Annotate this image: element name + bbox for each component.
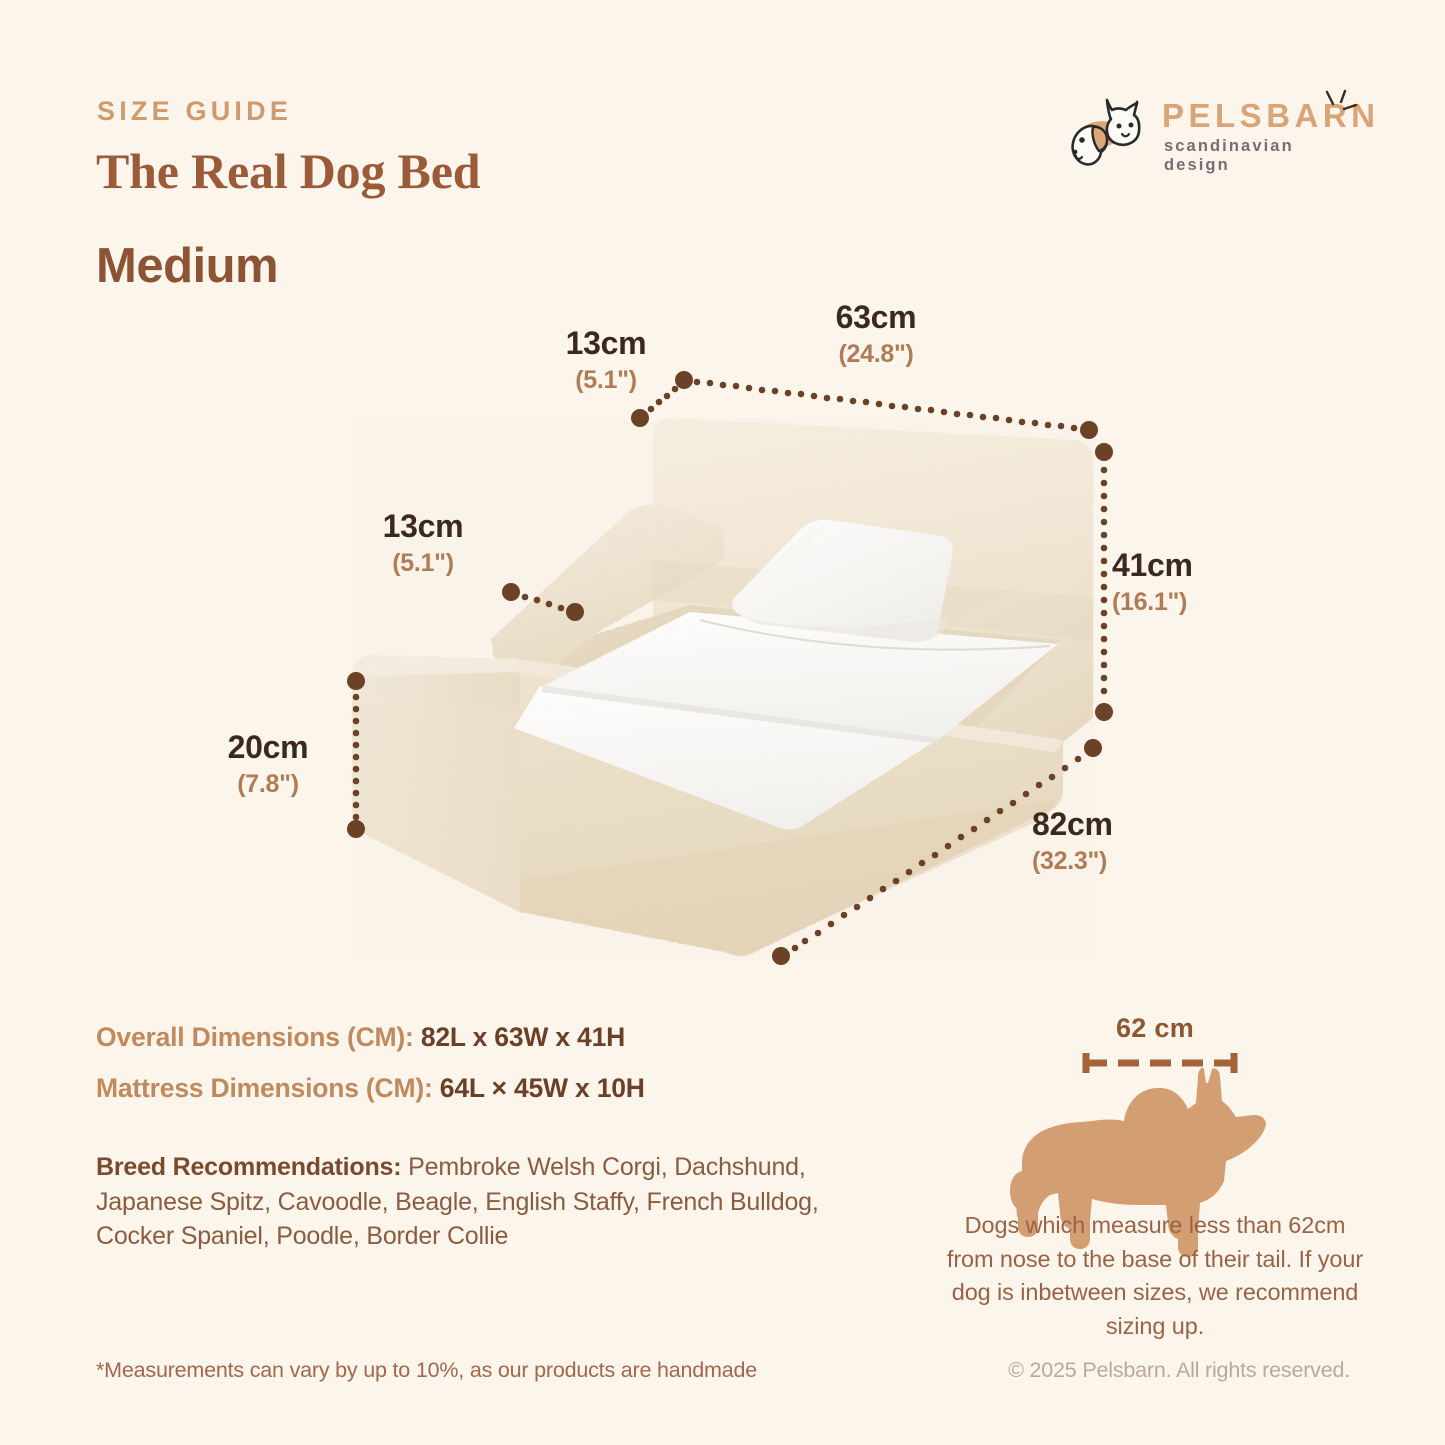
dimension-label-63cm: 63cm (24.8") bbox=[776, 301, 976, 367]
dog-and-cat-heads-icon bbox=[1063, 92, 1157, 170]
overall-dimensions-label: Overall Dimensions (CM): bbox=[96, 1022, 414, 1052]
overall-dimensions-row: Overall Dimensions (CM): 82L x 63W x 41H bbox=[96, 1022, 625, 1053]
mattress-dimensions-label: Mattress Dimensions (CM): bbox=[96, 1073, 433, 1103]
page-title: The Real Dog Bed bbox=[96, 142, 480, 200]
breed-recommendations-label: Breed Recommendations: bbox=[96, 1153, 401, 1181]
brand-logo[interactable]: PELSBARN scandinavian design bbox=[1063, 88, 1353, 174]
ruler-label-62cm: 62 cm bbox=[940, 1013, 1370, 1044]
dog-measurement-note: Dogs which measure less than 62cm from n… bbox=[940, 1209, 1370, 1343]
dimension-label-82cm: 82cm (32.3") bbox=[1032, 808, 1222, 874]
logo-tagline: scandinavian design bbox=[1164, 137, 1353, 175]
dimension-label-13cm-bolster: 13cm (5.1") bbox=[325, 510, 521, 576]
overall-dimensions-value: 82L x 63W x 41H bbox=[421, 1022, 625, 1052]
dimension-label-13cm-backrest: 13cm (5.1") bbox=[508, 327, 704, 393]
mattress-dimensions-row: Mattress Dimensions (CM): 64L × 45W x 10… bbox=[96, 1073, 645, 1104]
size-name: Medium bbox=[96, 238, 278, 294]
dimension-label-20cm: 20cm (7.8") bbox=[162, 731, 374, 797]
dimension-label-41cm: 41cm (16.1") bbox=[1112, 549, 1292, 615]
size-guide-page: SIZE GUIDE The Real Dog Bed Medium bbox=[0, 0, 1445, 1445]
measurement-disclaimer: *Measurements can vary by up to 10%, as … bbox=[96, 1358, 757, 1383]
eyebrow-label: SIZE GUIDE bbox=[97, 96, 292, 127]
sparkle-icon bbox=[1315, 88, 1359, 124]
mattress-dimensions-value: 64L × 45W x 10H bbox=[440, 1073, 645, 1103]
copyright-notice: © 2025 Pelsbarn. All rights reserved. bbox=[1008, 1358, 1350, 1383]
breed-recommendations: Breed Recommendations: Pembroke Welsh Co… bbox=[96, 1150, 866, 1254]
dimension-lines bbox=[347, 371, 1113, 965]
